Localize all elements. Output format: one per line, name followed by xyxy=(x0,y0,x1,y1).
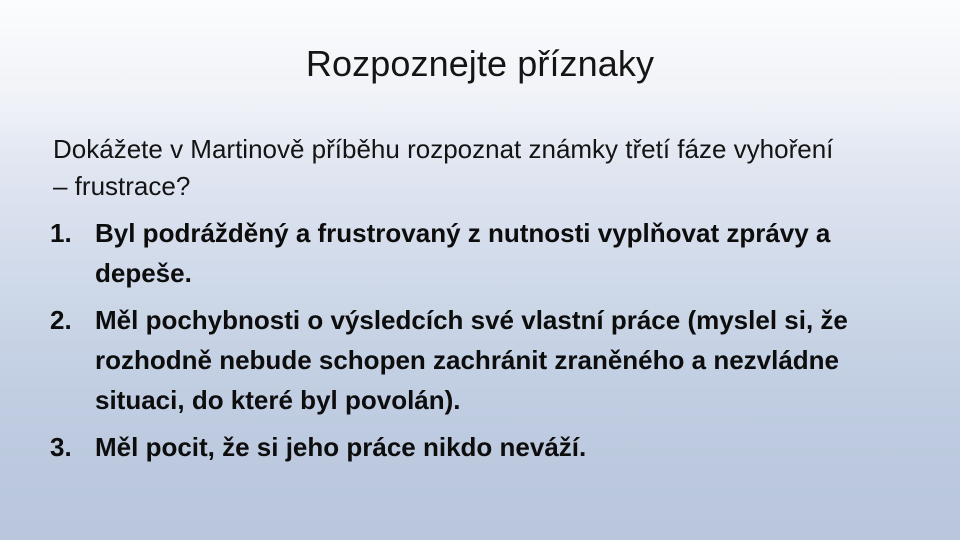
intro-paragraph: Dokážete v Martinově příběhu rozpoznat z… xyxy=(53,131,843,205)
list-item-label: Byl podrážděný a frustrovaný z nutnosti … xyxy=(95,213,918,293)
list-item-number: 1. xyxy=(50,213,80,253)
list-item: 1. Byl podrážděný a frustrovaný z nutnos… xyxy=(50,213,918,293)
list-item: 3. Měl pocit, že si jeho práce nikdo nev… xyxy=(50,427,918,467)
symptoms-list: 1. Byl podrážděný a frustrovaný z nutnos… xyxy=(50,213,918,467)
list-item-number: 2. xyxy=(50,300,80,340)
list-item-label: Měl pocit, že si jeho práce nikdo neváží… xyxy=(95,427,918,467)
list-item-number: 3. xyxy=(50,427,80,467)
slide-canvas: Rozpoznejte příznaky Dokážete v Martinov… xyxy=(0,0,960,540)
list-item: 2. Měl pochybnosti o výsledcích své vlas… xyxy=(50,300,918,420)
slide-body: Dokážete v Martinově příběhu rozpoznat z… xyxy=(50,131,918,467)
page-title: Rozpoznejte příznaky xyxy=(60,42,900,86)
list-item-label: Měl pochybnosti o výsledcích své vlastní… xyxy=(95,300,918,420)
